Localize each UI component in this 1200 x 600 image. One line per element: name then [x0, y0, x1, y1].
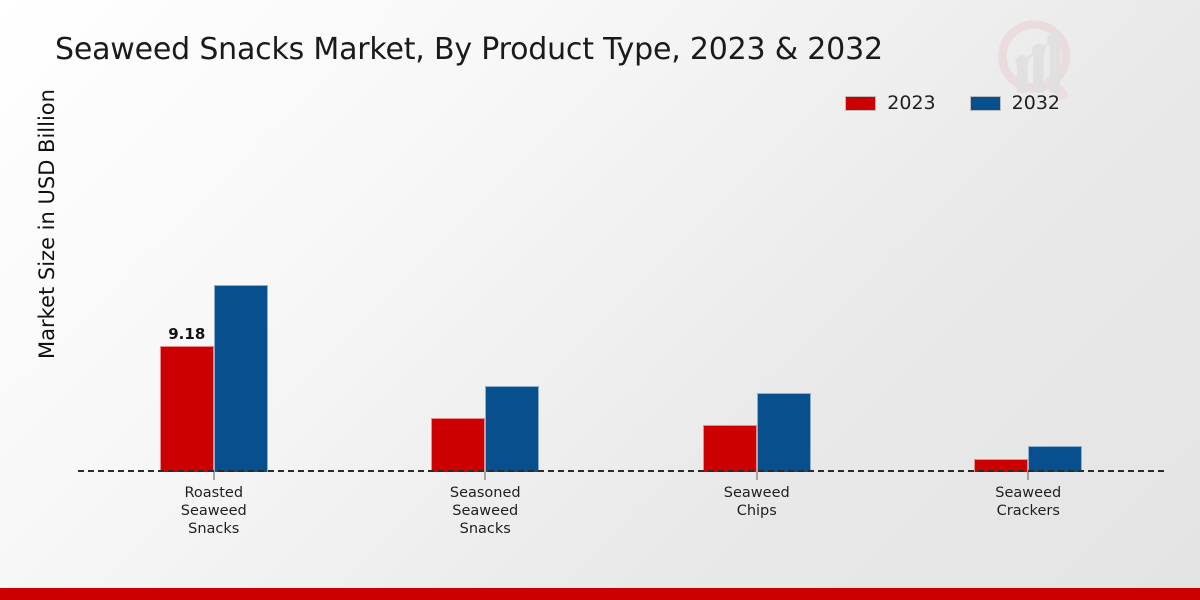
- bar-group-roasted-seaweed-snacks: 9.18 Roasted Seaweed Snacks: [78, 150, 350, 472]
- category-label-line1: Seaweed: [724, 484, 790, 502]
- bar-2023-seasoned-seaweed-snacks[interactable]: [431, 418, 485, 472]
- category-label-seaweed-crackers: Seaweed Crackers: [995, 484, 1061, 520]
- legend-label-2032: 2032: [1012, 92, 1060, 114]
- category-label-line2: Chips: [724, 502, 790, 520]
- category-label-line1: Seasoned: [450, 484, 521, 502]
- bar-group-seasoned-seaweed-snacks: Seasoned Seaweed Snacks: [350, 150, 622, 472]
- bar-value-label: 9.18: [168, 325, 205, 343]
- bar-2023-roasted-seaweed-snacks[interactable]: 9.18: [160, 346, 214, 472]
- category-label-seasoned-seaweed-snacks: Seasoned Seaweed Snacks: [450, 484, 521, 538]
- bar-2032-seaweed-crackers[interactable]: [1028, 446, 1082, 472]
- bar-2023-seaweed-chips[interactable]: [703, 425, 757, 472]
- category-label-line3: Snacks: [450, 520, 521, 538]
- category-label-line2: Seaweed: [181, 502, 247, 520]
- category-label-line3: Snacks: [181, 520, 247, 538]
- axis-tick: [485, 472, 486, 480]
- chart-legend: 2023 2032: [845, 92, 1060, 114]
- axis-tick: [756, 472, 757, 480]
- plot-area: 9.18 Roasted Seaweed Snacks Seasoned Sea…: [78, 150, 1164, 472]
- bar-group-seaweed-chips: Seaweed Chips: [621, 150, 893, 472]
- y-axis-title: Market Size in USD Billion: [35, 59, 59, 389]
- category-label-line1: Roasted: [181, 484, 247, 502]
- legend-item-2032[interactable]: 2032: [970, 92, 1060, 114]
- legend-item-2023[interactable]: 2023: [845, 92, 935, 114]
- category-label-roasted-seaweed-snacks: Roasted Seaweed Snacks: [181, 484, 247, 538]
- bar-2032-seaweed-chips[interactable]: [757, 393, 811, 472]
- category-label-seaweed-chips: Seaweed Chips: [724, 484, 790, 520]
- bar-groups: 9.18 Roasted Seaweed Snacks Seasoned Sea…: [78, 150, 1164, 472]
- legend-swatch-2032: [970, 96, 1001, 111]
- category-label-line2: Seaweed: [450, 502, 521, 520]
- bar-2032-seasoned-seaweed-snacks[interactable]: [485, 386, 539, 472]
- axis-tick: [1028, 472, 1029, 480]
- page-title: Seaweed Snacks Market, By Product Type, …: [55, 32, 883, 67]
- legend-swatch-2023: [845, 96, 876, 111]
- legend-label-2023: 2023: [887, 92, 935, 114]
- chart-container: Seaweed Snacks Market, By Product Type, …: [0, 0, 1200, 600]
- category-label-line2: Crackers: [995, 502, 1061, 520]
- category-label-line1: Seaweed: [995, 484, 1061, 502]
- bar-2032-roasted-seaweed-snacks[interactable]: [214, 285, 268, 472]
- axis-baseline: [78, 470, 1164, 472]
- bottom-accent-band: [0, 588, 1200, 600]
- bar-group-seaweed-crackers: Seaweed Crackers: [893, 150, 1165, 472]
- axis-tick: [213, 472, 214, 480]
